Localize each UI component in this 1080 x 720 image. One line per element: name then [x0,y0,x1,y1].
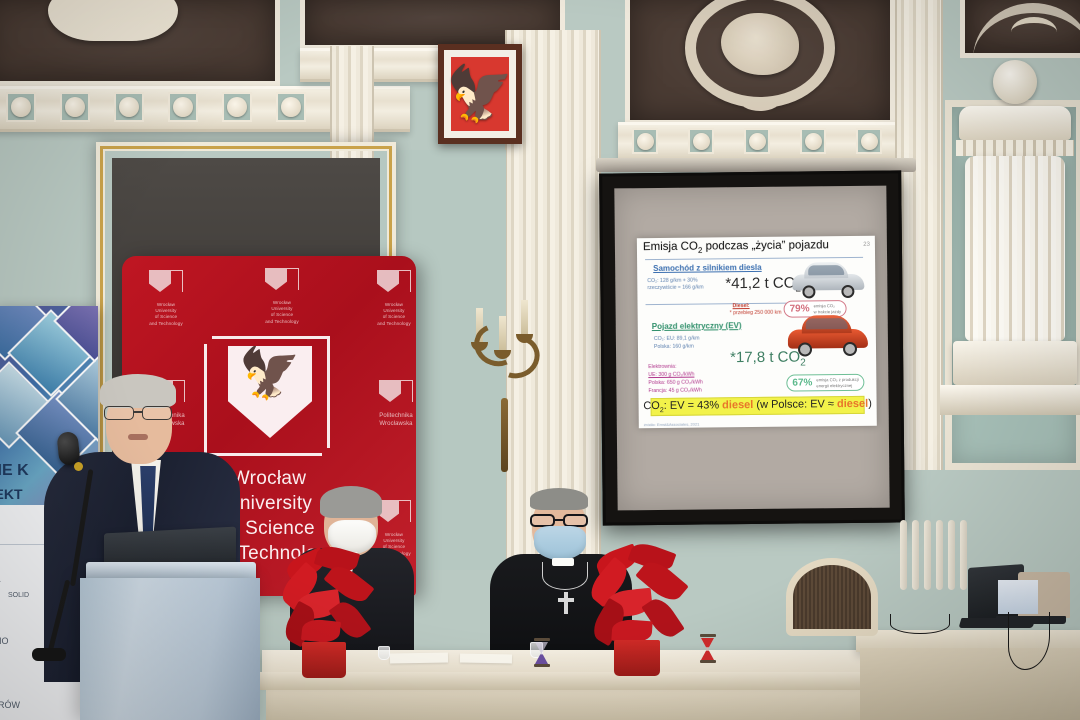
hourglass-cap-bottom [700,660,716,663]
flower-pot [614,640,660,676]
frieze-panel-left [0,0,280,86]
table-paper [460,654,512,664]
car-wheel [802,285,815,298]
conclusion-text: CO2: EV = 43% diesel (w Polsce: EV ≈ die… [643,398,872,415]
rosette-ornament [800,128,826,154]
pct-value: 67% [792,377,812,388]
white-eagle-icon: 🦅 [239,350,301,398]
frieze-panel-far-right [960,0,1080,58]
coat-of-arms-mat: 🦅 [444,50,516,138]
tech-table-front [860,648,1080,720]
pct-badge-67: 67% emisja CO₂ z produkcji energii elekt… [786,374,865,392]
presentation-slide: Emisja CO2 podczas „życia” pojazdu 23 Sa… [637,236,877,428]
urn-body [965,156,1065,341]
table-paper [390,652,448,663]
rosette-ornament [856,128,882,154]
diesel-note-line: * przebieg 250 000 km [730,310,782,318]
white-eagle-icon: 🦅 [446,67,513,121]
mini-logo-3: WrocławUniversityof Scienceand Technolog… [366,270,416,327]
slide-conclusion-banner: CO2: EV = 43% diesel (w Polsce: EV ≈ die… [651,396,865,416]
urn-cap [959,106,1071,140]
glasses-lens-left [104,406,134,420]
ev-sub-line-1: UE: 300 g CO₂/kWh [648,372,694,380]
eyeglasses-icon [104,406,174,421]
section-heading-diesel: Samochód z silnikiem diesla [653,263,762,273]
poster-sub-2: SOLID [8,592,29,599]
rosette-ornament [744,128,770,154]
poinsettia-petal [301,618,341,644]
glasses-lens-right [142,406,172,420]
slide-title: Emisja CO2 podczas „życia” pojazdu [643,239,829,255]
hourglass-red [700,634,716,666]
urn-plinth [940,385,1080,415]
power-cable [890,614,950,634]
candle [521,300,528,334]
wreath-bow [738,85,782,111]
slide-page-number: 23 [863,242,870,248]
pct-description: emisja CO₂ w trakcie jazdy [814,303,842,314]
pectoral-cross-icon [558,592,574,614]
hourglass-purple [534,638,550,670]
projection-screen: Emisja CO2 podczas „życia” pojazdu 23 Sa… [599,170,905,525]
rosette-ornament [168,92,198,122]
ev-line-1: CO₂: EU: 89,1 g/km [654,336,700,344]
car-wheel [798,342,812,356]
stucco-urn [940,60,1080,415]
urn-base [953,341,1077,385]
laptop-screen [998,580,1038,614]
glasses-bridge [555,519,563,521]
microphone-band [74,462,83,471]
hourglass-cap-top [700,634,716,637]
microphone-base [32,648,66,661]
pct-description: emisja CO₂ z produkcji energii elektrycz… [816,377,858,388]
crest-icon [377,270,411,300]
hourglass-cap-top [534,638,550,641]
diesel-car-silver-icon [792,260,864,295]
hourglass-cap-bottom [534,664,550,667]
bronze-candelabra-sconce [468,300,540,450]
crest-icon [149,270,183,300]
car-window [806,318,848,329]
cross-chain [542,562,588,590]
wall-radiator [900,520,967,590]
speaker-hair [100,374,176,408]
panelist-hair [320,486,382,518]
crest-icon [265,268,299,298]
ev-subhead: Elektrownia: [648,364,676,372]
rosette-ornament [276,92,306,122]
stucco-ornament [48,0,178,41]
poster-sub-4: ARÓW [0,700,20,710]
speaker-mouth [128,434,148,440]
rosette-ornament [114,92,144,122]
lectern-podium [80,578,260,720]
poster-sub-1: NA [0,574,1,584]
diesel-line-2: rzeczywiście ≈ 166 g/km [647,285,703,293]
urn-neck [956,140,1074,156]
mini-logo-caption: WrocławUniversityof Scienceand Technolog… [254,300,310,325]
crest-icon [379,380,413,410]
rosette-ornament [632,128,658,154]
hourglass-sand [535,642,548,664]
car-wheel [841,285,854,298]
car-window [808,265,844,275]
mini-logo-caption: WrocławUniversityof Scienceand Technolog… [138,302,194,327]
coat-of-arms-field: 🦅 [451,57,509,131]
stucco-ribbon [1011,17,1057,47]
sconce-stem [501,398,508,472]
sconce-arms [468,300,540,354]
rosette-ornament [222,92,252,122]
empty-wooden-chair [786,558,882,648]
mini-logo-caption: WrocławUniversityof Scienceand Technolog… [366,302,416,327]
surgical-mask-blue [534,526,586,560]
mini-logo-2: WrocławUniversityof Scienceand Technolog… [254,268,310,325]
slide-source-note: źródło: Ernst&Associates, 2021 [644,422,700,428]
conference-hall-photo: 🦅 Emisja CO2 podczas „życia” pojazdu 23 [0,0,1080,720]
frieze-panel-right [625,0,895,125]
urn-finial [993,60,1037,104]
poster-sub-3: LNO [0,636,9,646]
stucco-swag [973,3,1080,59]
mini-logo-1: WrocławUniversityof Scienceand Technolog… [138,270,194,327]
hourglass-sand [701,638,714,660]
chair-backrest [786,558,878,636]
rosette-row-left [6,92,306,122]
drinking-glass [378,646,390,660]
ev-sub-line-2: Polska: 650 g CO₂/kWh [648,380,703,388]
poster-headline-1: NIE K [0,462,29,480]
poinsettia-right [586,546,686,676]
polish-coat-of-arms-frame: 🦅 [438,44,522,144]
rosette-ornament [60,92,90,122]
clergy-hair [530,488,588,510]
diesel-co2-value: *41,2 t CO2 [725,274,801,295]
laurel-wreath-medallion [685,0,835,108]
poinsettia-left [278,548,374,678]
electric-car-red-icon [788,314,868,353]
section-heading-ev: Pojazd elektryczny (EV) [652,321,742,331]
pct-value: 79% [790,303,810,314]
glasses-bridge [134,411,142,413]
rosette-row-right [632,128,882,154]
car-wheel [843,342,857,356]
rosette-ornament [6,92,36,122]
poster-headline-2: LEKT [0,486,23,502]
rosette-ornament [688,128,714,154]
ev-line-2: Polska: 160 g/km [654,344,694,352]
ev-sub-line-3: Francja: 45 g CO₂/kWh [648,388,701,396]
flower-pot [302,642,346,678]
